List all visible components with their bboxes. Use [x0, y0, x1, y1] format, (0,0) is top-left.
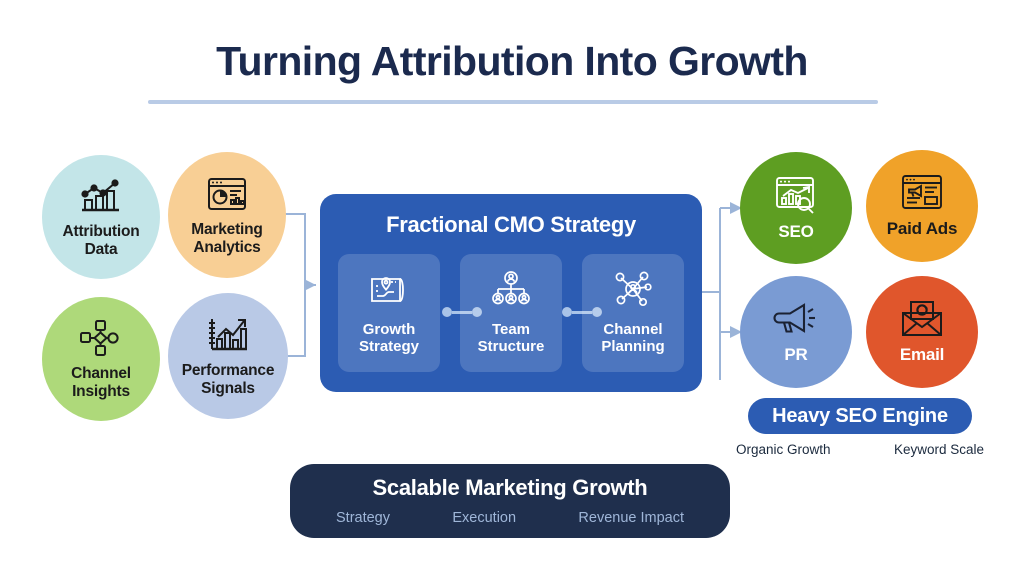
strategy-card-label-team-structure: TeamStructure — [478, 322, 545, 356]
heavy-seo-engine-badge[interactable]: Heavy SEO Engine — [748, 398, 972, 434]
megaphone-icon — [771, 299, 821, 339]
strategy-card-label-growth-strategy: GrowthStrategy — [359, 322, 419, 356]
strategy-card-label-channel-planning: ChannelPlanning — [601, 322, 664, 356]
output-node-pr[interactable]: PR — [740, 276, 852, 388]
bar-line-chart-icon — [77, 176, 125, 216]
center-strategy-panel: Fractional CMO Strategy — [320, 194, 702, 392]
input-label-performance-signals: PerformanceSignals — [182, 362, 275, 397]
heavy-seo-engine-sublabels: Organic Growth Keyword Scale — [736, 442, 984, 457]
node-network-icon — [78, 318, 124, 358]
output-label-email: Email — [900, 345, 944, 364]
input-node-attribution-data[interactable]: AttributionData — [42, 155, 160, 279]
growth-panel-sublabels: Strategy Execution Revenue Impact — [336, 510, 684, 526]
scalable-marketing-growth-panel: Scalable Marketing Growth Strategy Execu… — [290, 464, 730, 538]
seo-sublabel-keyword-scale: Keyword Scale — [894, 442, 984, 457]
diagram-canvas: Turning Attribution Into Growth — [0, 0, 1024, 571]
input-node-channel-insights[interactable]: ChannelInsights — [42, 297, 160, 421]
envelope-at-icon — [898, 299, 946, 339]
center-panel-title: Fractional CMO Strategy — [320, 212, 702, 238]
output-node-email[interactable]: Email — [866, 276, 978, 388]
right-split-connector — [702, 208, 742, 380]
analytics-dashboard-icon — [203, 174, 251, 214]
seo-sublabel-organic-growth: Organic Growth — [736, 442, 831, 457]
output-node-paid-ads[interactable]: Paid Ads — [866, 150, 978, 262]
output-label-paid-ads: Paid Ads — [887, 219, 958, 238]
ad-megaphone-browser-icon — [899, 173, 945, 213]
growth-sublabel-revenue-impact: Revenue Impact — [578, 510, 684, 526]
strategy-card-channel-planning[interactable]: ChannelPlanning — [582, 254, 684, 372]
strategy-card-growth-strategy[interactable]: GrowthStrategy — [338, 254, 440, 372]
map-route-pin-icon — [367, 270, 411, 313]
network-hub-person-icon — [611, 270, 655, 313]
input-label-marketing-analytics: MarketingAnalytics — [191, 221, 262, 256]
output-label-seo: SEO — [778, 222, 813, 241]
input-label-attribution-data: AttributionData — [63, 223, 140, 258]
output-label-pr: PR — [784, 345, 807, 364]
input-label-channel-insights: ChannelInsights — [71, 365, 131, 400]
strategy-card-team-structure[interactable]: TeamStructure — [460, 254, 562, 372]
input-node-marketing-analytics[interactable]: MarketingAnalytics — [168, 152, 286, 278]
growth-sublabel-execution: Execution — [452, 510, 516, 526]
org-chart-icon — [489, 270, 533, 313]
title-divider — [148, 100, 878, 104]
growth-chart-arrow-icon — [204, 315, 252, 355]
output-node-seo[interactable]: SEO — [740, 152, 852, 264]
input-node-performance-signals[interactable]: PerformanceSignals — [168, 293, 288, 419]
page-title: Turning Attribution Into Growth — [0, 38, 1024, 85]
growth-sublabel-strategy: Strategy — [336, 510, 390, 526]
growth-panel-title: Scalable Marketing Growth — [290, 475, 730, 501]
seo-search-chart-icon — [772, 174, 820, 216]
strategy-card-list: GrowthStrategy — [338, 254, 684, 372]
left-merge-connector — [283, 214, 316, 356]
